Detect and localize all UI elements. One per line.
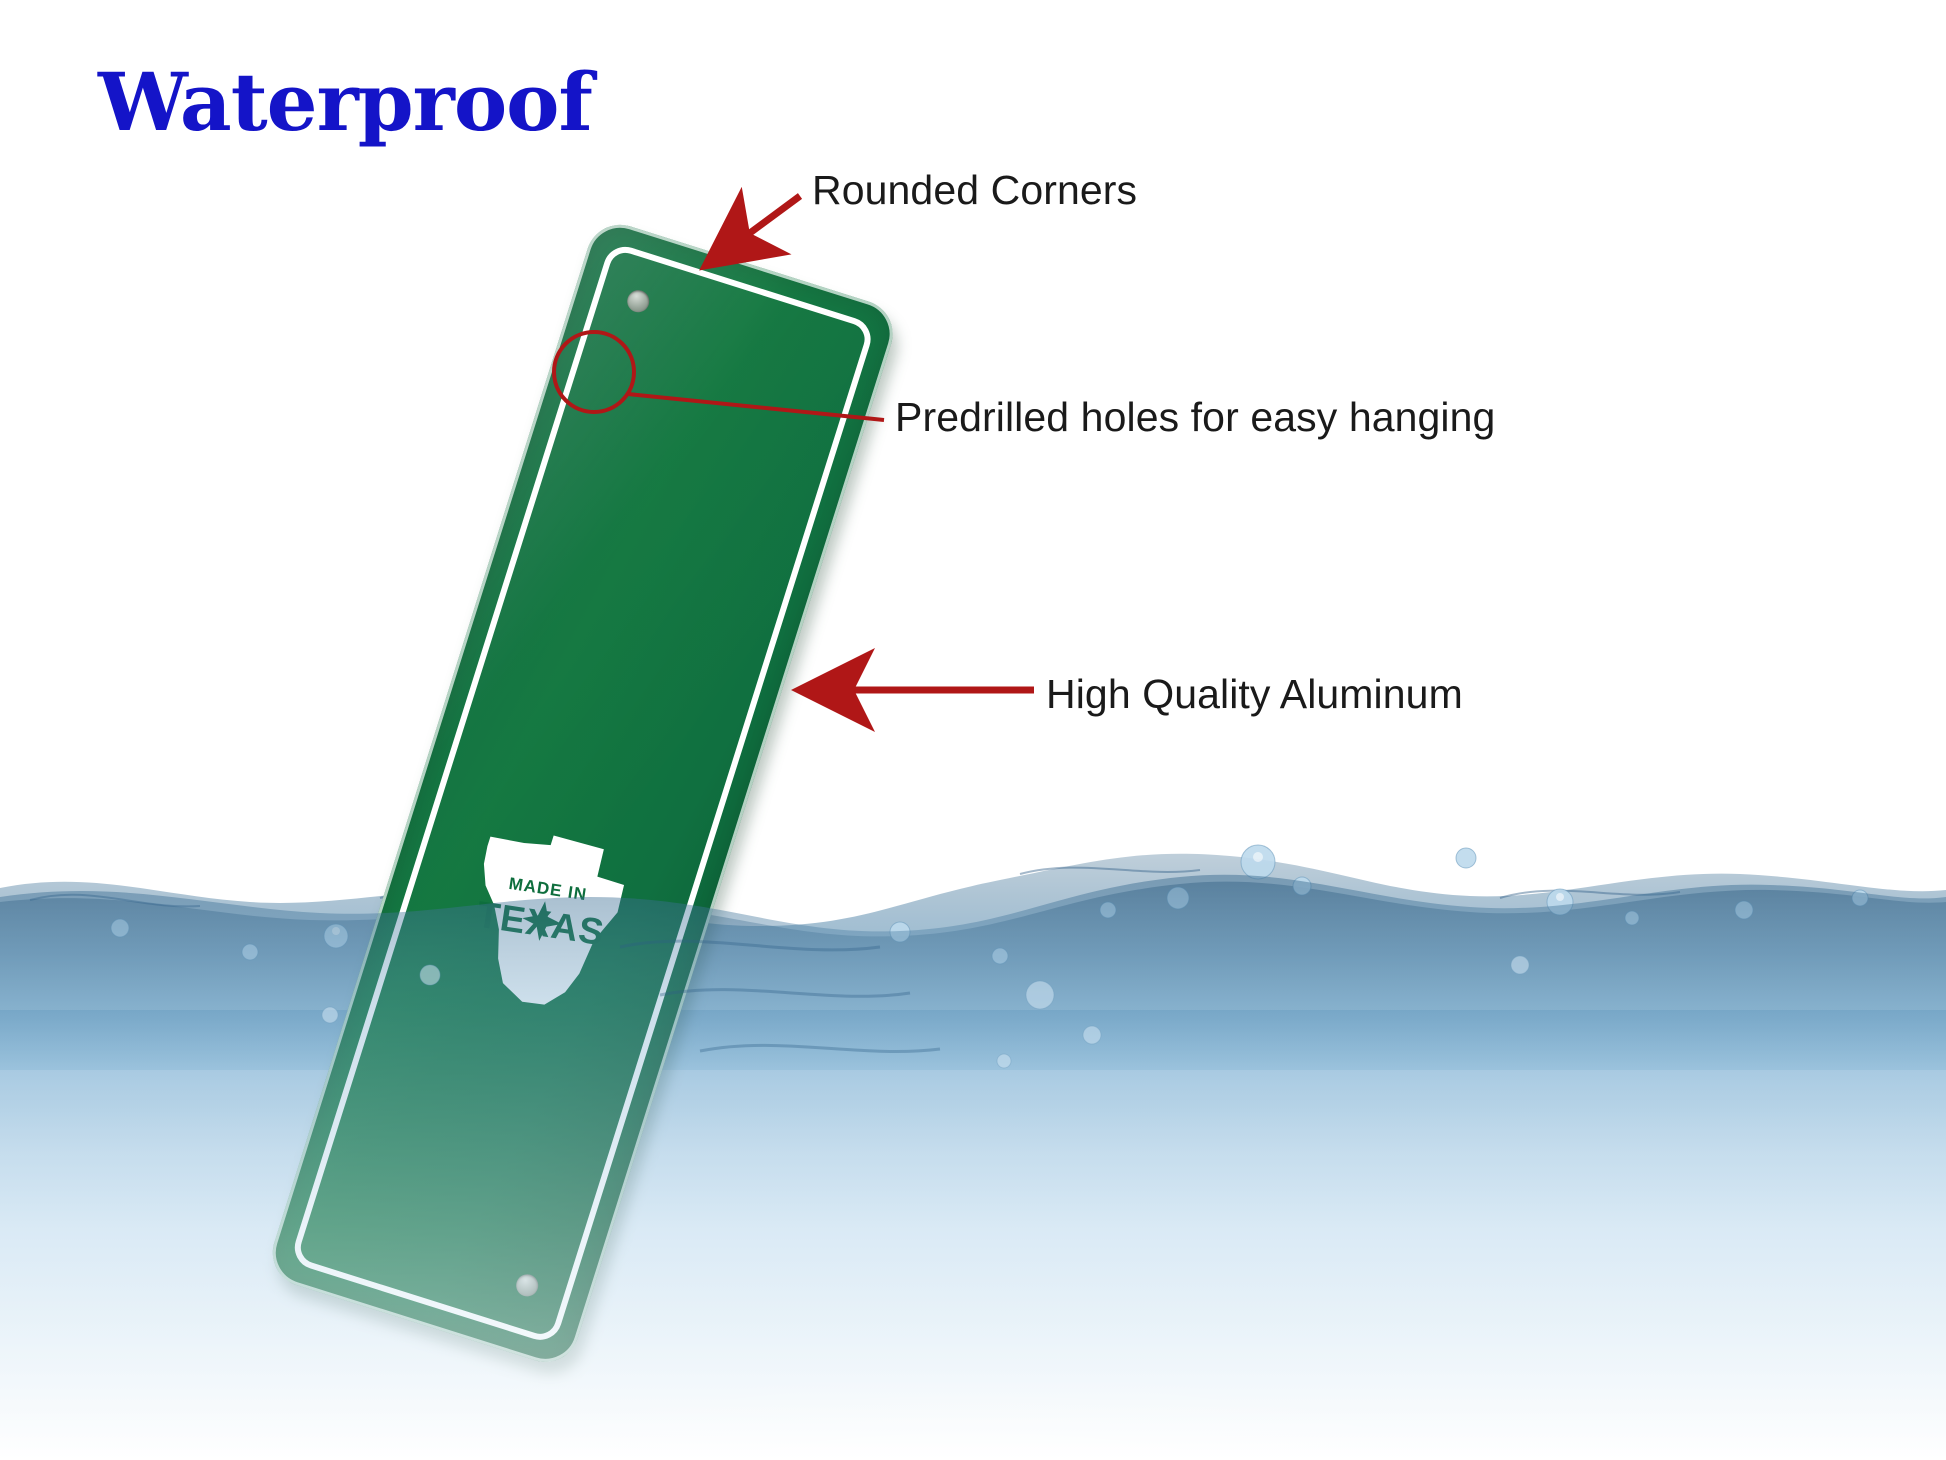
label-predrilled-holes: Predrilled holes for easy hanging — [895, 395, 1495, 440]
label-high-quality-aluminum: High Quality Aluminum — [1046, 672, 1463, 717]
page-title: Waterproof — [98, 55, 592, 149]
label-rounded-corners: Rounded Corners — [812, 168, 1137, 213]
product-feature-image: MADE IN TEXAS — [0, 0, 1946, 1460]
water-surface-splash — [0, 840, 1946, 1070]
